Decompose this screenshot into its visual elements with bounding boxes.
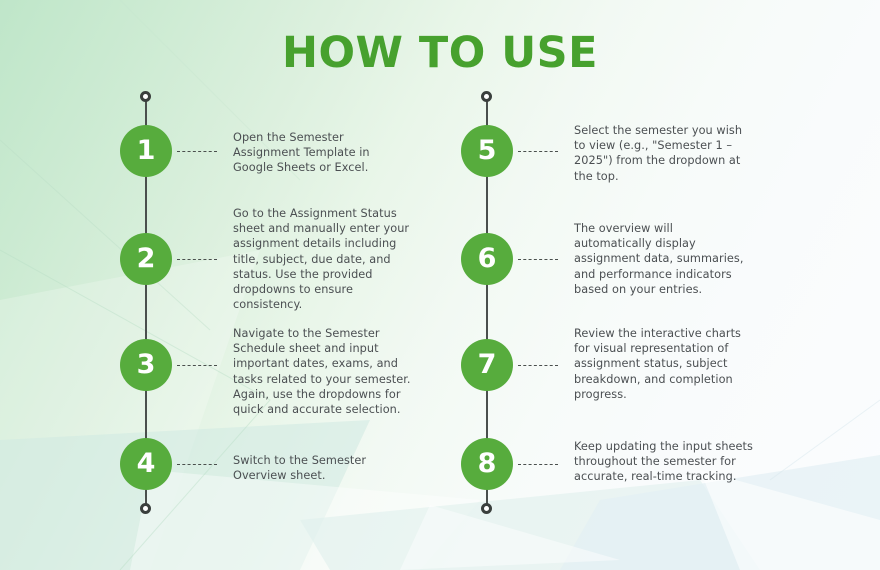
step-connector-dashed-line bbox=[177, 365, 217, 366]
step-number-badge: 5 bbox=[461, 125, 513, 177]
step-description: The overview will automatically display … bbox=[574, 221, 754, 297]
step-connector-dashed-line bbox=[177, 464, 217, 465]
step-description: Select the semester you wish to view (e.… bbox=[574, 123, 754, 184]
how-to-use-infographic: HOW TO USE 1 Open the Semester Assignmen… bbox=[0, 0, 880, 570]
timeline-endpoint-top-icon bbox=[481, 91, 492, 102]
step-description: Review the interactive charts for visual… bbox=[574, 326, 754, 402]
step-number-badge: 1 bbox=[120, 125, 172, 177]
step-description: Switch to the Semester Overview sheet. bbox=[233, 453, 413, 483]
step-connector-dashed-line bbox=[177, 259, 217, 260]
timeline-endpoint-bottom-icon bbox=[140, 503, 151, 514]
step-description: Keep updating the input sheets throughou… bbox=[574, 439, 754, 485]
step-connector-dashed-line bbox=[518, 151, 558, 152]
step-description: Open the Semester Assignment Template in… bbox=[233, 130, 413, 176]
step-description: Navigate to the Semester Schedule sheet … bbox=[233, 326, 413, 417]
step-number-badge: 2 bbox=[120, 233, 172, 285]
step-number-badge: 7 bbox=[461, 339, 513, 391]
step-number-badge: 4 bbox=[120, 438, 172, 490]
timeline-endpoint-top-icon bbox=[140, 91, 151, 102]
step-connector-dashed-line bbox=[177, 151, 217, 152]
step-connector-dashed-line bbox=[518, 365, 558, 366]
page-title: HOW TO USE bbox=[0, 28, 880, 78]
step-number-badge: 6 bbox=[461, 233, 513, 285]
step-connector-dashed-line bbox=[518, 259, 558, 260]
timeline-endpoint-bottom-icon bbox=[481, 503, 492, 514]
step-number-badge: 8 bbox=[461, 438, 513, 490]
step-number-badge: 3 bbox=[120, 339, 172, 391]
step-description: Go to the Assignment Status sheet and ma… bbox=[233, 206, 413, 312]
step-connector-dashed-line bbox=[518, 464, 558, 465]
